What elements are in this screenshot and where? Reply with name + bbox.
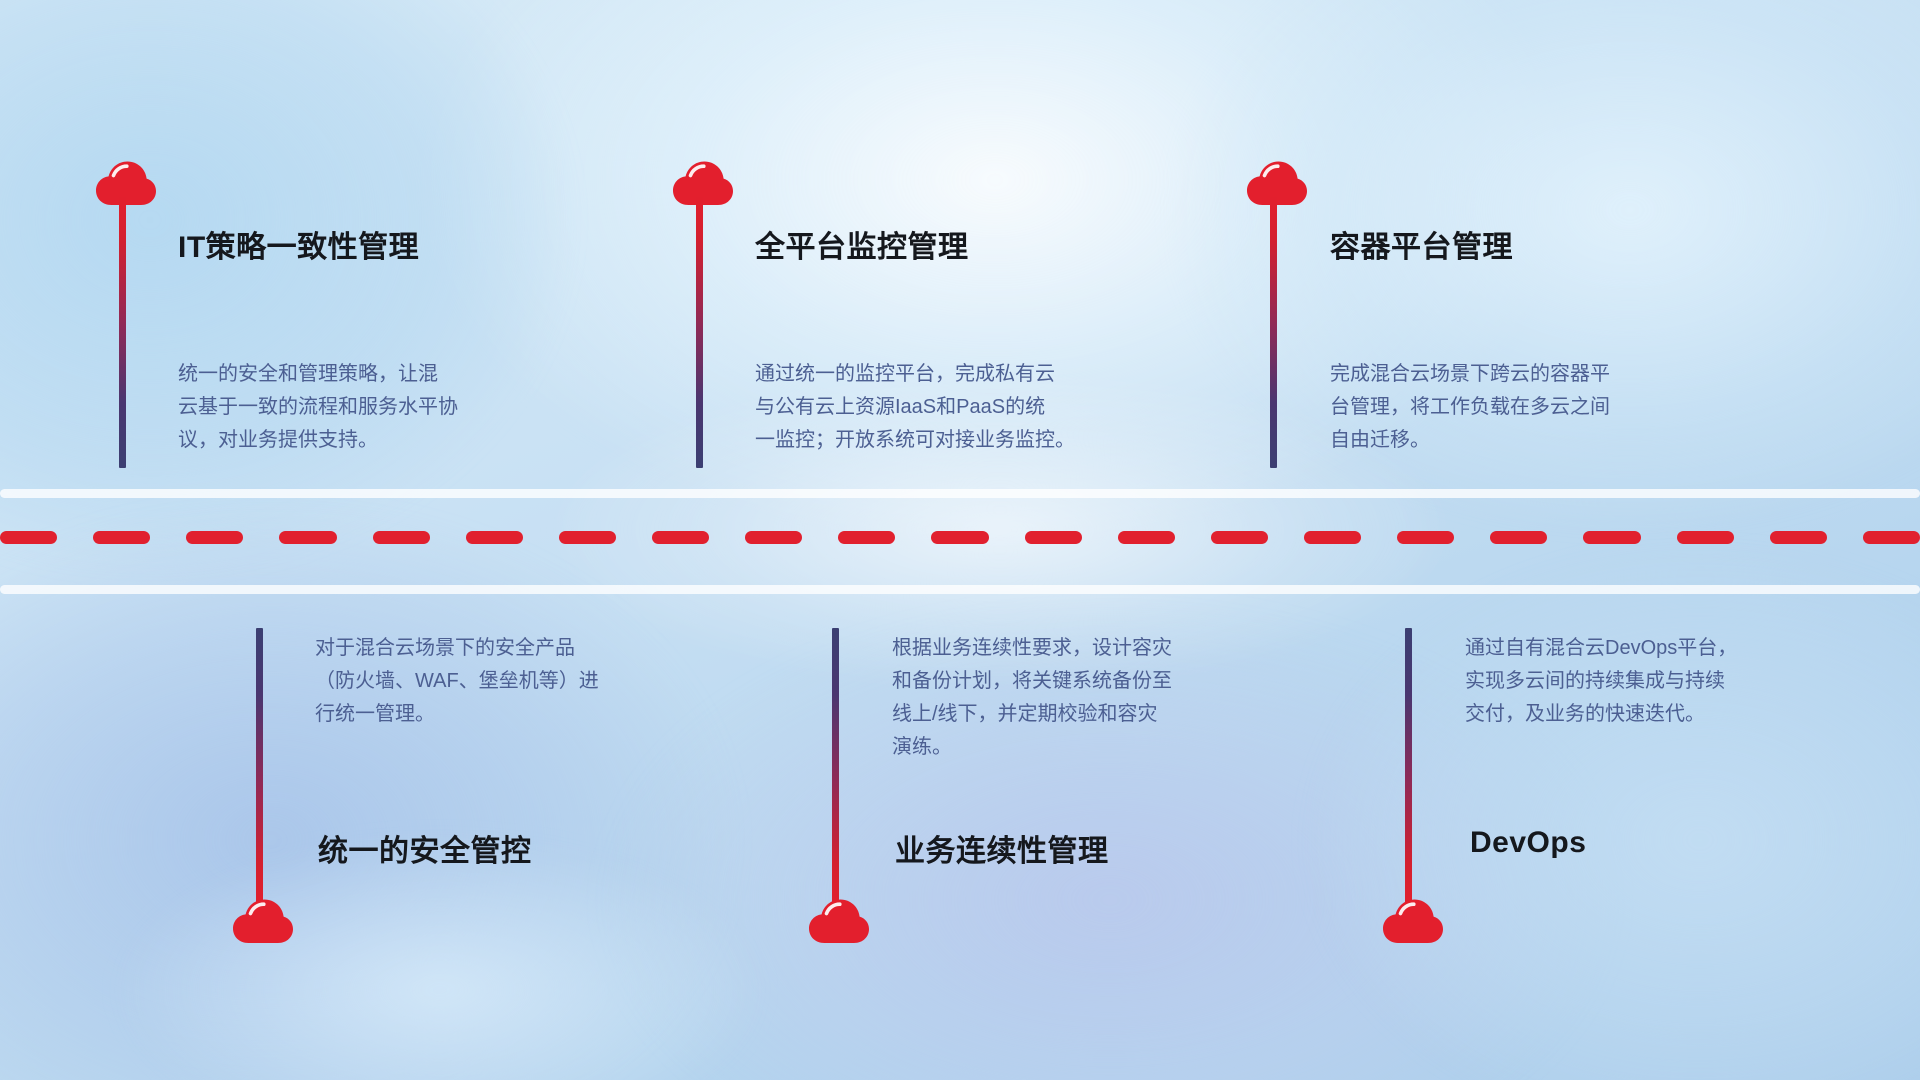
top-column-1-title: IT策略一致性管理 [178, 222, 419, 266]
dash-segment [0, 531, 57, 544]
infographic-canvas: IT策略一致性管理 统一的安全和管理策略，让混 云基于一致的流程和服务水平协 议… [0, 0, 1920, 1080]
connector-stem [256, 628, 263, 908]
bottom-column-2-body: 根据业务连续性要求，设计容灾 和备份计划，将关键系统备份至 线上/线下，并定期校… [892, 632, 1322, 764]
divider-band [0, 485, 1920, 605]
connector-stem [1405, 628, 1412, 908]
dash-segment [93, 531, 150, 544]
dash-segment [1863, 531, 1920, 544]
top-column-2-body: 通过统一的监控平台，完成私有云 与公有云上资源IaaS和PaaS的统 一监控；开… [755, 358, 1195, 457]
connector-stem [119, 196, 126, 468]
bottom-column-1-title: 统一的安全管控 [318, 826, 532, 870]
dash-segment [1677, 531, 1734, 544]
dash-segment [1583, 531, 1640, 544]
cloud-icon [672, 160, 734, 206]
dash-segment [559, 531, 616, 544]
dash-segment [745, 531, 802, 544]
cloud-icon [232, 898, 294, 944]
cloud-icon [1382, 898, 1444, 944]
dash-segment [1211, 531, 1268, 544]
connector-stem [696, 196, 703, 468]
top-column-3-title: 容器平台管理 [1330, 222, 1513, 266]
dashed-separator [0, 530, 1920, 544]
cloud-icon [808, 898, 870, 944]
dash-segment [838, 531, 895, 544]
cloud-icon [95, 160, 157, 206]
dash-segment [1025, 531, 1082, 544]
top-column-3-body: 完成混合云场景下跨云的容器平 台管理，将工作负载在多云之间 自由迁移。 [1330, 358, 1760, 457]
dash-segment [1490, 531, 1547, 544]
bottom-column-1-body: 对于混合云场景下的安全产品 （防火墙、WAF、堡垒机等）进 行统一管理。 [315, 632, 745, 731]
dash-segment [1118, 531, 1175, 544]
connector-stem [832, 628, 839, 908]
dash-segment [1304, 531, 1361, 544]
dash-segment [466, 531, 523, 544]
dash-segment [1397, 531, 1454, 544]
dash-segment [1770, 531, 1827, 544]
bottom-column-2-title: 业务连续性管理 [895, 826, 1109, 870]
cloud-icon [1246, 160, 1308, 206]
dash-segment [279, 531, 336, 544]
dash-segment [652, 531, 709, 544]
dash-segment [186, 531, 243, 544]
bottom-column-3-title: DevOps [1470, 826, 1586, 860]
bottom-column-3-body: 通过自有混合云DevOps平台， 实现多云间的持续集成与持续 交付，及业务的快速… [1465, 632, 1895, 731]
divider-rule-bottom [0, 585, 1920, 594]
top-column-2-title: 全平台监控管理 [755, 222, 969, 266]
dash-segment [931, 531, 988, 544]
top-column-1-body: 统一的安全和管理策略，让混 云基于一致的流程和服务水平协 议，对业务提供支持。 [178, 358, 608, 457]
connector-stem [1270, 196, 1277, 468]
divider-rule-top [0, 489, 1920, 498]
dash-segment [373, 531, 430, 544]
